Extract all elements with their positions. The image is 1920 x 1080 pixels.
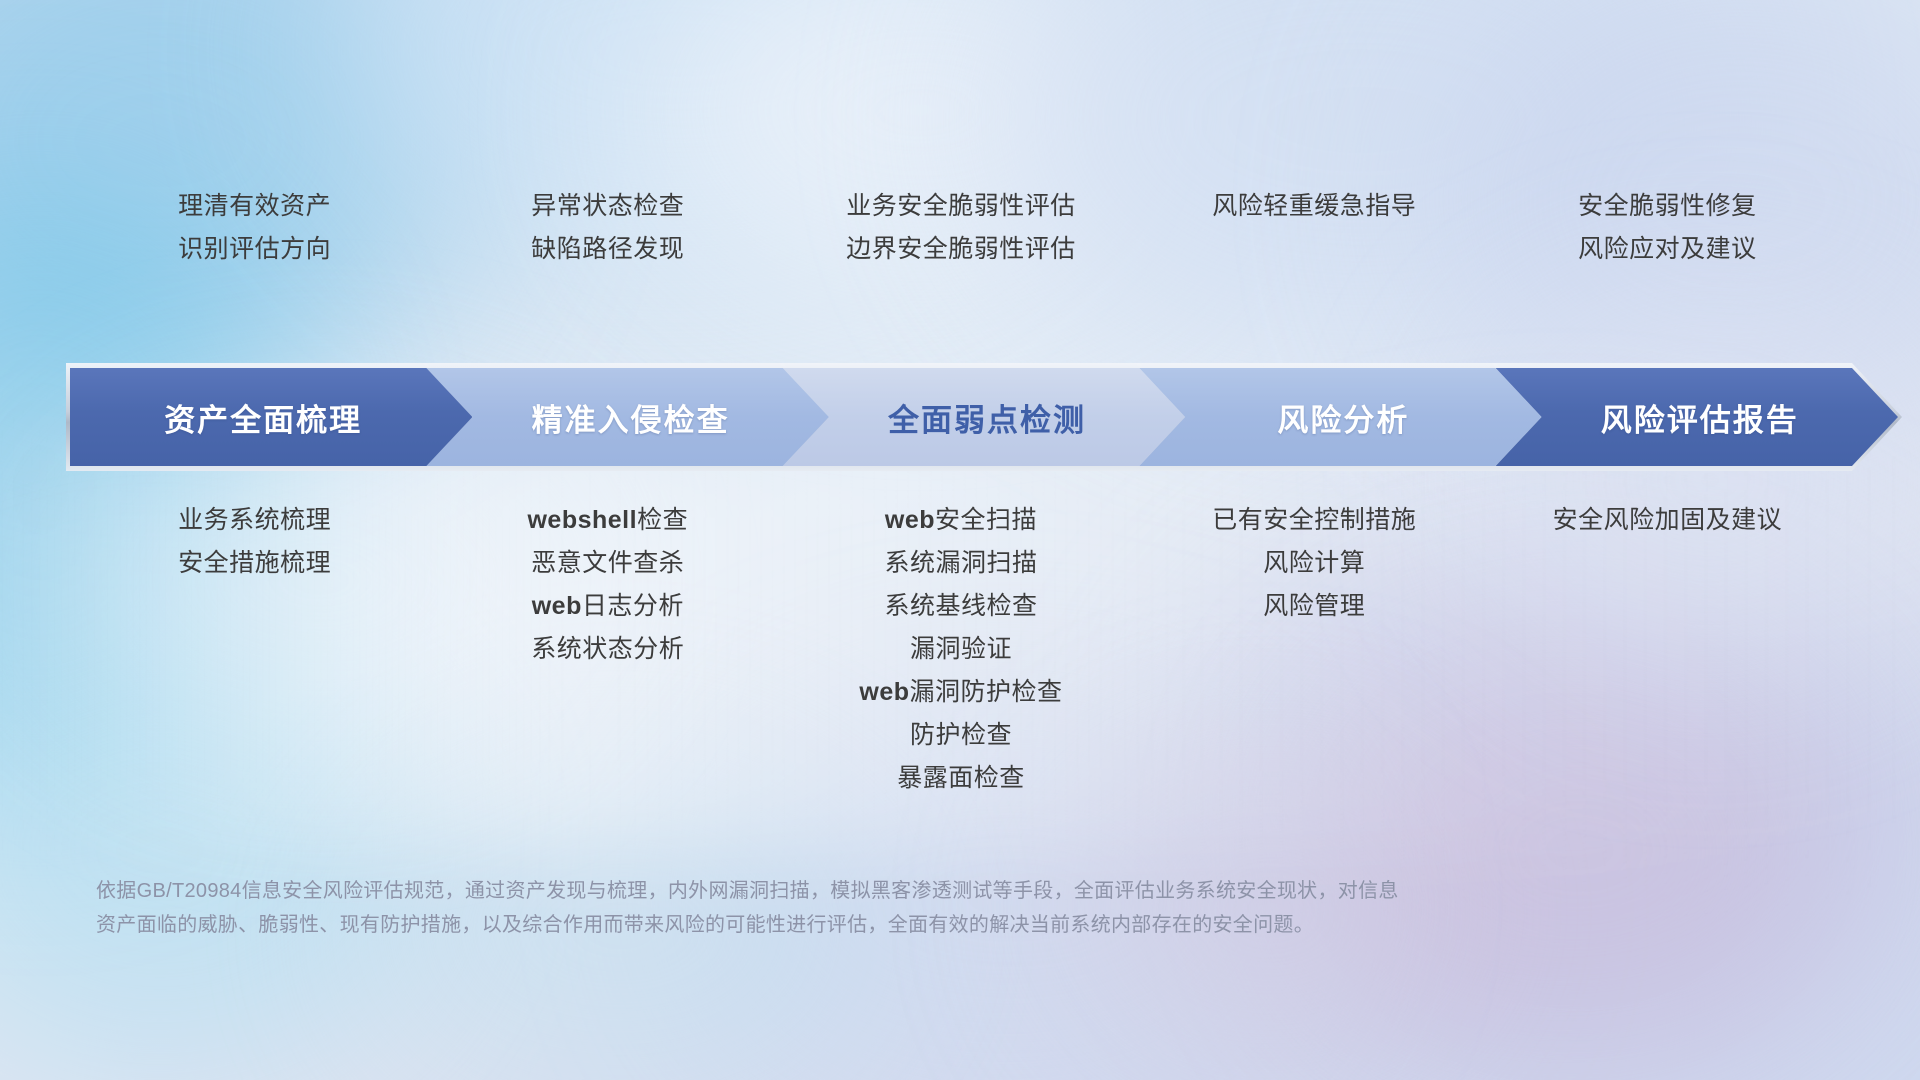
chevron-intrusion-check[interactable]: 精准入侵检查 xyxy=(426,368,828,466)
bottom-item: web漏洞防护检查 xyxy=(859,672,1062,712)
footer-line-2: 资产面临的威胁、脆弱性、现有防护措施，以及综合作用而带来风险的可能性进行评估，全… xyxy=(96,908,1636,942)
top-item: 风险应对及建议 xyxy=(1578,229,1757,269)
bottom-item: 安全风险加固及建议 xyxy=(1553,500,1783,540)
top-item: 识别评估方向 xyxy=(178,229,331,269)
bottom-item: 已有安全控制措施 xyxy=(1212,500,1416,540)
bottom-column-risk-report: 安全风险加固及建议 xyxy=(1491,500,1844,801)
bottom-item-en: web xyxy=(859,678,909,706)
chevron-label: 风险评估报告 xyxy=(1601,395,1799,440)
top-item: 理清有效资产 xyxy=(178,186,331,226)
bottom-item-en: web xyxy=(532,592,582,620)
bottom-item: 系统漏洞扫描 xyxy=(884,543,1037,583)
top-item: 异常状态检查 xyxy=(531,186,684,226)
bottom-item: 暴露面检查 xyxy=(897,758,1025,798)
bottom-details-row: 业务系统梳理安全措施梳理webshell检查恶意文件查杀web日志分析系统状态分… xyxy=(78,500,1844,801)
top-item: 业务安全脆弱性评估 xyxy=(846,186,1076,226)
chevron-weakness-detection[interactable]: 全面弱点检测 xyxy=(783,368,1185,466)
bottom-item: 风险管理 xyxy=(1263,586,1365,626)
bottom-column-weakness-detection: web安全扫描系统漏洞扫描系统基线检查漏洞验证web漏洞防护检查防护检查暴露面检… xyxy=(784,500,1137,801)
top-item: 缺陷路径发现 xyxy=(531,229,684,269)
footer-description: 依据GB/T20984信息安全风险评估规范，通过资产发现与梳理，内外网漏洞扫描，… xyxy=(96,874,1636,942)
bottom-column-intrusion-check: webshell检查恶意文件查杀web日志分析系统状态分析 xyxy=(431,500,784,801)
bottom-item-cn: 日志分析 xyxy=(582,592,684,620)
chevron-label: 资产全面梳理 xyxy=(164,395,362,440)
chevron-risk-report[interactable]: 风险评估报告 xyxy=(1496,368,1898,466)
top-column-risk-report: 安全脆弱性修复风险应对及建议 xyxy=(1491,186,1844,272)
bottom-item-cn: 漏洞防护检查 xyxy=(910,678,1063,706)
chevron-label: 精准入侵检查 xyxy=(532,395,730,440)
slide-content: 理清有效资产识别评估方向异常状态检查缺陷路径发现业务安全脆弱性评估边界安全脆弱性… xyxy=(0,0,1920,1080)
bottom-item: 系统基线检查 xyxy=(884,586,1037,626)
bottom-column-asset-inventory: 业务系统梳理安全措施梳理 xyxy=(78,500,431,801)
bottom-item-cn: 检查 xyxy=(637,506,688,534)
top-column-risk-analysis: 风险轻重缓急指导 xyxy=(1138,186,1491,272)
bottom-item-cn: 安全扫描 xyxy=(935,506,1037,534)
top-descriptions-row: 理清有效资产识别评估方向异常状态检查缺陷路径发现业务安全脆弱性评估边界安全脆弱性… xyxy=(78,186,1844,272)
top-column-asset-inventory: 理清有效资产识别评估方向 xyxy=(78,186,431,272)
bottom-item-en: webshell xyxy=(527,506,637,534)
top-item: 风险轻重缓急指导 xyxy=(1212,186,1416,226)
top-item: 安全脆弱性修复 xyxy=(1578,186,1757,226)
footer-line-1: 依据GB/T20984信息安全风险评估规范，通过资产发现与梳理，内外网漏洞扫描，… xyxy=(96,874,1636,908)
bottom-item: webshell检查 xyxy=(527,500,688,540)
top-item: 边界安全脆弱性评估 xyxy=(846,229,1076,269)
bottom-item-en: web xyxy=(885,506,935,534)
bottom-item: web日志分析 xyxy=(532,586,684,626)
bottom-item: 漏洞验证 xyxy=(910,629,1012,669)
bottom-item: 系统状态分析 xyxy=(531,629,684,669)
bottom-column-risk-analysis: 已有安全控制措施风险计算风险管理 xyxy=(1138,500,1491,801)
top-column-weakness-detection: 业务安全脆弱性评估边界安全脆弱性评估 xyxy=(784,186,1137,272)
chevron-label: 全面弱点检测 xyxy=(888,395,1086,440)
top-column-intrusion-check: 异常状态检查缺陷路径发现 xyxy=(431,186,784,272)
process-chevron-banner: 资产全面梳理精准入侵检查全面弱点检测风险分析风险评估报告 xyxy=(70,368,1852,466)
bottom-item: 恶意文件查杀 xyxy=(531,543,684,583)
bottom-item: 风险计算 xyxy=(1263,543,1365,583)
chevron-risk-analysis[interactable]: 风险分析 xyxy=(1139,368,1541,466)
chevron-asset-inventory[interactable]: 资产全面梳理 xyxy=(70,368,472,466)
bottom-item: 安全措施梳理 xyxy=(178,543,331,583)
chevron-label: 风险分析 xyxy=(1277,395,1409,440)
bottom-item: web安全扫描 xyxy=(885,500,1037,540)
bottom-item: 防护检查 xyxy=(910,715,1012,755)
bottom-item: 业务系统梳理 xyxy=(178,500,331,540)
